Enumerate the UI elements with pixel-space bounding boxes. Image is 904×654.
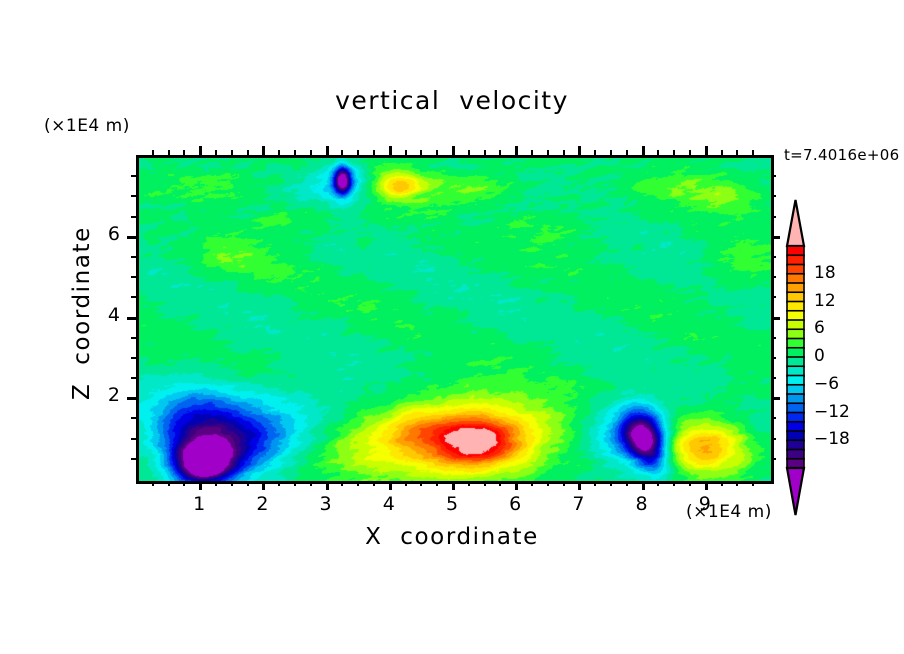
y-axis-tick — [771, 276, 776, 278]
x-axis-tick — [389, 146, 392, 155]
x-axis-tick — [310, 481, 312, 486]
x-axis-tick — [752, 481, 754, 486]
x-axis-tick — [294, 481, 296, 486]
y-axis-units-label: (×1E4 m) — [44, 116, 130, 136]
colorbar-ticklabel: 18 — [814, 263, 836, 283]
x-axis-tick — [499, 150, 501, 155]
colorbar-band — [787, 255, 804, 265]
y-axis-tick — [771, 438, 776, 440]
x-axis-tick — [215, 481, 217, 486]
x-axis-tick — [310, 150, 312, 155]
x-axis-tick — [547, 150, 549, 155]
x-axis-tick — [673, 150, 675, 155]
x-axis-tick — [610, 150, 612, 155]
y-axis-tick — [771, 357, 776, 359]
x-axis-tick — [183, 481, 185, 486]
x-axis-tick — [705, 146, 708, 155]
y-axis-tick — [771, 377, 776, 379]
x-axis-tick — [721, 150, 723, 155]
colorbar-band — [787, 320, 804, 330]
colorbar-band — [787, 348, 804, 358]
y-axis-tick — [131, 256, 136, 258]
x-axis-tick — [326, 481, 329, 490]
x-axis-tick — [168, 150, 170, 155]
x-axis-tick — [436, 481, 438, 486]
x-axis-tick — [657, 150, 659, 155]
x-axis-tick — [168, 481, 170, 486]
x-axis-tick — [278, 150, 280, 155]
x-axis-tick — [420, 150, 422, 155]
y-axis-ticklabel: 2 — [80, 384, 120, 406]
colorbar-band — [787, 329, 804, 339]
x-axis-tick — [199, 481, 202, 490]
y-axis-tick — [131, 357, 136, 359]
y-axis-tick — [771, 175, 776, 177]
x-axis-tick — [199, 146, 202, 155]
x-axis-tick — [499, 481, 501, 486]
y-axis-tick — [771, 337, 776, 339]
y-axis-tick — [771, 296, 776, 298]
x-axis-tick — [657, 481, 659, 486]
x-axis-tick — [752, 150, 754, 155]
x-axis-tick — [247, 481, 249, 486]
x-axis-tick — [531, 481, 533, 486]
colorbar-ticklabel: 6 — [814, 318, 825, 338]
colorbar-band — [787, 357, 804, 367]
x-axis-tick — [642, 481, 645, 490]
x-axis-tick — [294, 150, 296, 155]
x-axis-ticklabel: 1 — [179, 493, 219, 515]
x-axis-tick — [736, 481, 738, 486]
colorbar-ticklabel: −12 — [814, 402, 850, 422]
x-axis-ticklabel: 5 — [432, 493, 472, 515]
x-axis-tick — [152, 481, 154, 486]
colorbar-ticklabel: −6 — [814, 374, 839, 394]
x-axis-tick — [278, 481, 280, 486]
x-axis-tick — [626, 150, 628, 155]
x-axis-tick — [357, 481, 359, 486]
colorbar-band — [787, 283, 804, 293]
x-axis-tick — [215, 150, 217, 155]
figure-canvas: vertical velocity (×1E4 m) (×1E4 m) t=7.… — [0, 0, 904, 654]
x-axis-tick — [578, 481, 581, 490]
x-axis-tick — [405, 481, 407, 486]
x-axis-tick — [405, 150, 407, 155]
colorbar-svg — [783, 199, 809, 517]
colorbar-band — [787, 394, 804, 404]
y-axis-tick — [127, 397, 136, 400]
colorbar — [783, 199, 807, 515]
x-axis-tick — [452, 146, 455, 155]
colorbar-band — [787, 366, 804, 376]
x-axis-tick — [689, 481, 691, 486]
colorbar-band — [787, 302, 804, 312]
colorbar-band — [787, 376, 804, 386]
x-axis-tick — [484, 150, 486, 155]
x-axis-tick — [721, 481, 723, 486]
x-axis-tick — [357, 150, 359, 155]
colorbar-band — [787, 413, 804, 423]
colorbar-band — [787, 440, 804, 450]
x-axis-tick — [341, 481, 343, 486]
y-axis-tick — [131, 417, 136, 419]
y-axis-tick — [131, 337, 136, 339]
y-axis-ticklabel: 4 — [80, 304, 120, 326]
colorbar-band — [787, 385, 804, 395]
y-axis-ticklabel: 6 — [80, 223, 120, 245]
x-axis-tick — [673, 481, 675, 486]
x-axis-tick — [705, 481, 708, 490]
x-axis-ticklabel: 8 — [622, 493, 662, 515]
x-axis-tick — [231, 481, 233, 486]
colorbar-band — [787, 311, 804, 321]
colorbar-band — [787, 246, 804, 256]
y-axis-tick — [131, 195, 136, 197]
colorbar-ticklabel: 0 — [814, 346, 825, 366]
y-axis-tick — [131, 276, 136, 278]
colorbar-band — [787, 274, 804, 284]
vertical-velocity-field — [139, 158, 771, 481]
x-axis-tick — [531, 150, 533, 155]
colorbar-band — [787, 292, 804, 302]
x-axis-tick — [515, 481, 518, 490]
y-axis-tick — [771, 216, 776, 218]
x-axis-tick — [642, 146, 645, 155]
x-axis-tick — [452, 481, 455, 490]
x-axis-ticklabel: 7 — [558, 493, 598, 515]
y-axis-tick — [131, 458, 136, 460]
x-axis-tick — [262, 146, 265, 155]
x-axis-tick — [594, 481, 596, 486]
x-axis-tick — [262, 481, 265, 490]
colorbar-ticklabel: 12 — [814, 291, 836, 311]
colorbar-ticklabel: −18 — [814, 429, 850, 449]
x-axis-title: X coordinate — [136, 524, 768, 550]
x-axis-tick — [578, 146, 581, 155]
x-axis-tick — [373, 150, 375, 155]
x-axis-tick — [547, 481, 549, 486]
colorbar-band — [787, 339, 804, 349]
x-axis-tick — [152, 150, 154, 155]
y-axis-tick — [771, 317, 780, 320]
time-annotation: t=7.4016e+06 — [784, 146, 899, 164]
x-axis-tick — [341, 150, 343, 155]
x-axis-ticklabel: 4 — [369, 493, 409, 515]
x-axis-tick — [626, 481, 628, 486]
y-axis-tick — [771, 236, 780, 239]
x-axis-tick — [563, 150, 565, 155]
x-axis-tick — [515, 146, 518, 155]
colorbar-band — [787, 422, 804, 432]
x-axis-ticklabel: 2 — [242, 493, 282, 515]
colorbar-band — [787, 403, 804, 413]
x-axis-ticklabel: 6 — [495, 493, 535, 515]
y-axis-tick — [127, 317, 136, 320]
y-axis-tick — [771, 458, 776, 460]
y-axis-tick — [131, 377, 136, 379]
x-axis-tick — [736, 150, 738, 155]
y-axis-tick — [131, 296, 136, 298]
x-axis-tick — [420, 481, 422, 486]
contour-plot-area — [136, 155, 774, 484]
x-axis-tick — [183, 150, 185, 155]
colorbar-band — [787, 450, 804, 460]
y-axis-tick — [131, 216, 136, 218]
y-axis-tick — [771, 195, 776, 197]
x-axis-tick — [468, 481, 470, 486]
x-axis-tick — [484, 481, 486, 486]
x-axis-tick — [231, 150, 233, 155]
x-axis-ticklabel: 9 — [685, 493, 725, 515]
y-axis-tick — [771, 256, 776, 258]
x-axis-tick — [610, 481, 612, 486]
y-axis-tick — [771, 397, 780, 400]
y-axis-tick — [131, 438, 136, 440]
y-axis-tick — [771, 417, 776, 419]
y-axis-tick — [127, 236, 136, 239]
x-axis-tick — [468, 150, 470, 155]
x-axis-tick — [689, 150, 691, 155]
x-axis-tick — [247, 150, 249, 155]
x-axis-tick — [563, 481, 565, 486]
colorbar-band — [787, 431, 804, 441]
x-axis-tick — [373, 481, 375, 486]
colorbar-band — [787, 265, 804, 275]
page-title: vertical velocity — [0, 86, 904, 115]
x-axis-tick — [594, 150, 596, 155]
x-axis-tick — [326, 146, 329, 155]
x-axis-ticklabel: 3 — [306, 493, 346, 515]
y-axis-tick — [131, 175, 136, 177]
x-axis-tick — [436, 150, 438, 155]
x-axis-tick — [389, 481, 392, 490]
